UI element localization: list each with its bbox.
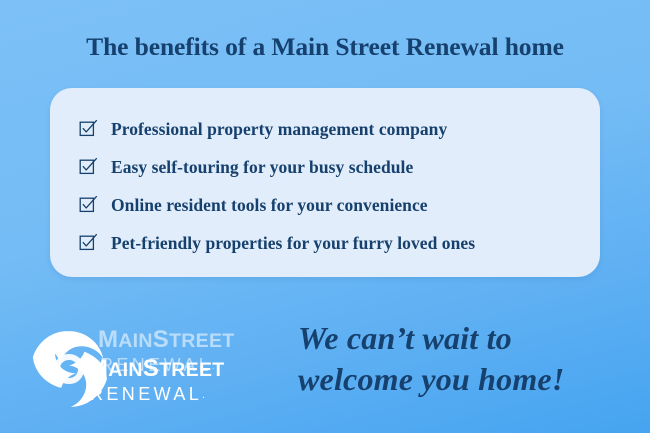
brand-subword: RENEWAL. xyxy=(90,385,205,403)
checked-box-icon xyxy=(78,156,98,176)
list-item-label: Online resident tools for your convenien… xyxy=(111,195,428,216)
list-item: Easy self-touring for your busy schedule xyxy=(50,148,600,186)
brand-wordmark-ghost: MAINSTREET xyxy=(98,328,235,352)
list-item: Online resident tools for your convenien… xyxy=(50,186,600,224)
tagline-line-1: We can’t wait to xyxy=(298,318,628,359)
brand-wordmark: MAINSTREET xyxy=(88,357,225,381)
page-title: The benefits of a Main Street Renewal ho… xyxy=(0,32,650,62)
list-item: Professional property management company xyxy=(50,110,600,148)
list-item-label: Pet-friendly properties for your furry l… xyxy=(111,233,475,254)
list-item-label: Professional property management company xyxy=(111,119,447,140)
list-item: Pet-friendly properties for your furry l… xyxy=(50,224,600,262)
footer: MAINSTREET RENEWAL. MAINSTREET RENEWAL. … xyxy=(0,300,650,433)
promo-poster: The benefits of a Main Street Renewal ho… xyxy=(0,0,650,433)
checked-box-icon xyxy=(78,232,98,252)
list-item-label: Easy self-touring for your busy schedule xyxy=(111,157,413,178)
checked-box-icon xyxy=(78,194,98,214)
tagline: We can’t wait to welcome you home! xyxy=(298,318,628,400)
benefits-card: Professional property management company… xyxy=(50,88,600,277)
brand-logo: MAINSTREET RENEWAL. MAINSTREET RENEWAL. xyxy=(26,322,288,418)
tagline-line-2: welcome you home! xyxy=(298,359,628,400)
checked-box-icon xyxy=(78,118,98,138)
